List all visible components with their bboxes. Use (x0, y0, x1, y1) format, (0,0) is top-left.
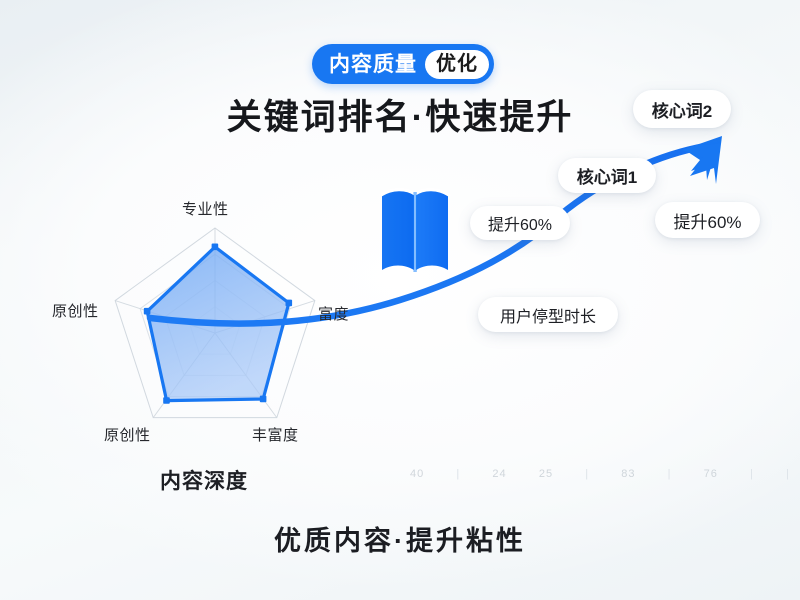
pill-uplift-right[interactable]: 提升60% (655, 202, 760, 238)
tick-2: 24 (492, 468, 506, 480)
radar-axis-label-left: 原创性 (52, 300, 99, 321)
page-subtitle: 优质内容·提升粘性 (0, 519, 800, 558)
pill-uplift-left[interactable]: 提升60% (470, 206, 570, 240)
tick-9: | (786, 468, 790, 480)
pill-keyword-2[interactable]: 核心词2 (633, 90, 731, 128)
slide-canvas: 内容质量 优化 关键词排名·快速提升 优质内容·提升粘性 内容深度 专业性 原创… (0, 0, 800, 600)
tick-4: | (585, 468, 589, 480)
radar-axis-label-top: 专业性 (182, 198, 229, 219)
tick-5: 83 (621, 468, 635, 480)
tick-1: | (456, 468, 460, 480)
tick-0: 40 (410, 468, 424, 480)
radar-axis-label-right: 富度 (318, 303, 349, 324)
topic-badge-chip: 优化 (425, 50, 489, 79)
open-book-icon (381, 190, 449, 272)
tick-3: 25 (539, 468, 553, 480)
tick-7: 76 (704, 468, 718, 480)
chart-caption: 内容深度 (160, 465, 248, 495)
topic-badge-label: 内容质量 (329, 54, 425, 75)
pill-dwell-time[interactable]: 用户停型时长 (478, 297, 618, 332)
topic-badge[interactable]: 内容质量 优化 (312, 44, 494, 84)
radar-axis-label-bottom-left: 原创性 (104, 424, 151, 445)
pill-keyword-1[interactable]: 核心词1 (558, 158, 656, 193)
radar-axis-label-bottom-right: 丰富度 (252, 424, 299, 445)
tick-6: | (668, 468, 672, 480)
faint-axis-ticks: 40 | 24 25 | 83 | 76 | | (410, 462, 790, 486)
tick-8: | (750, 468, 754, 480)
